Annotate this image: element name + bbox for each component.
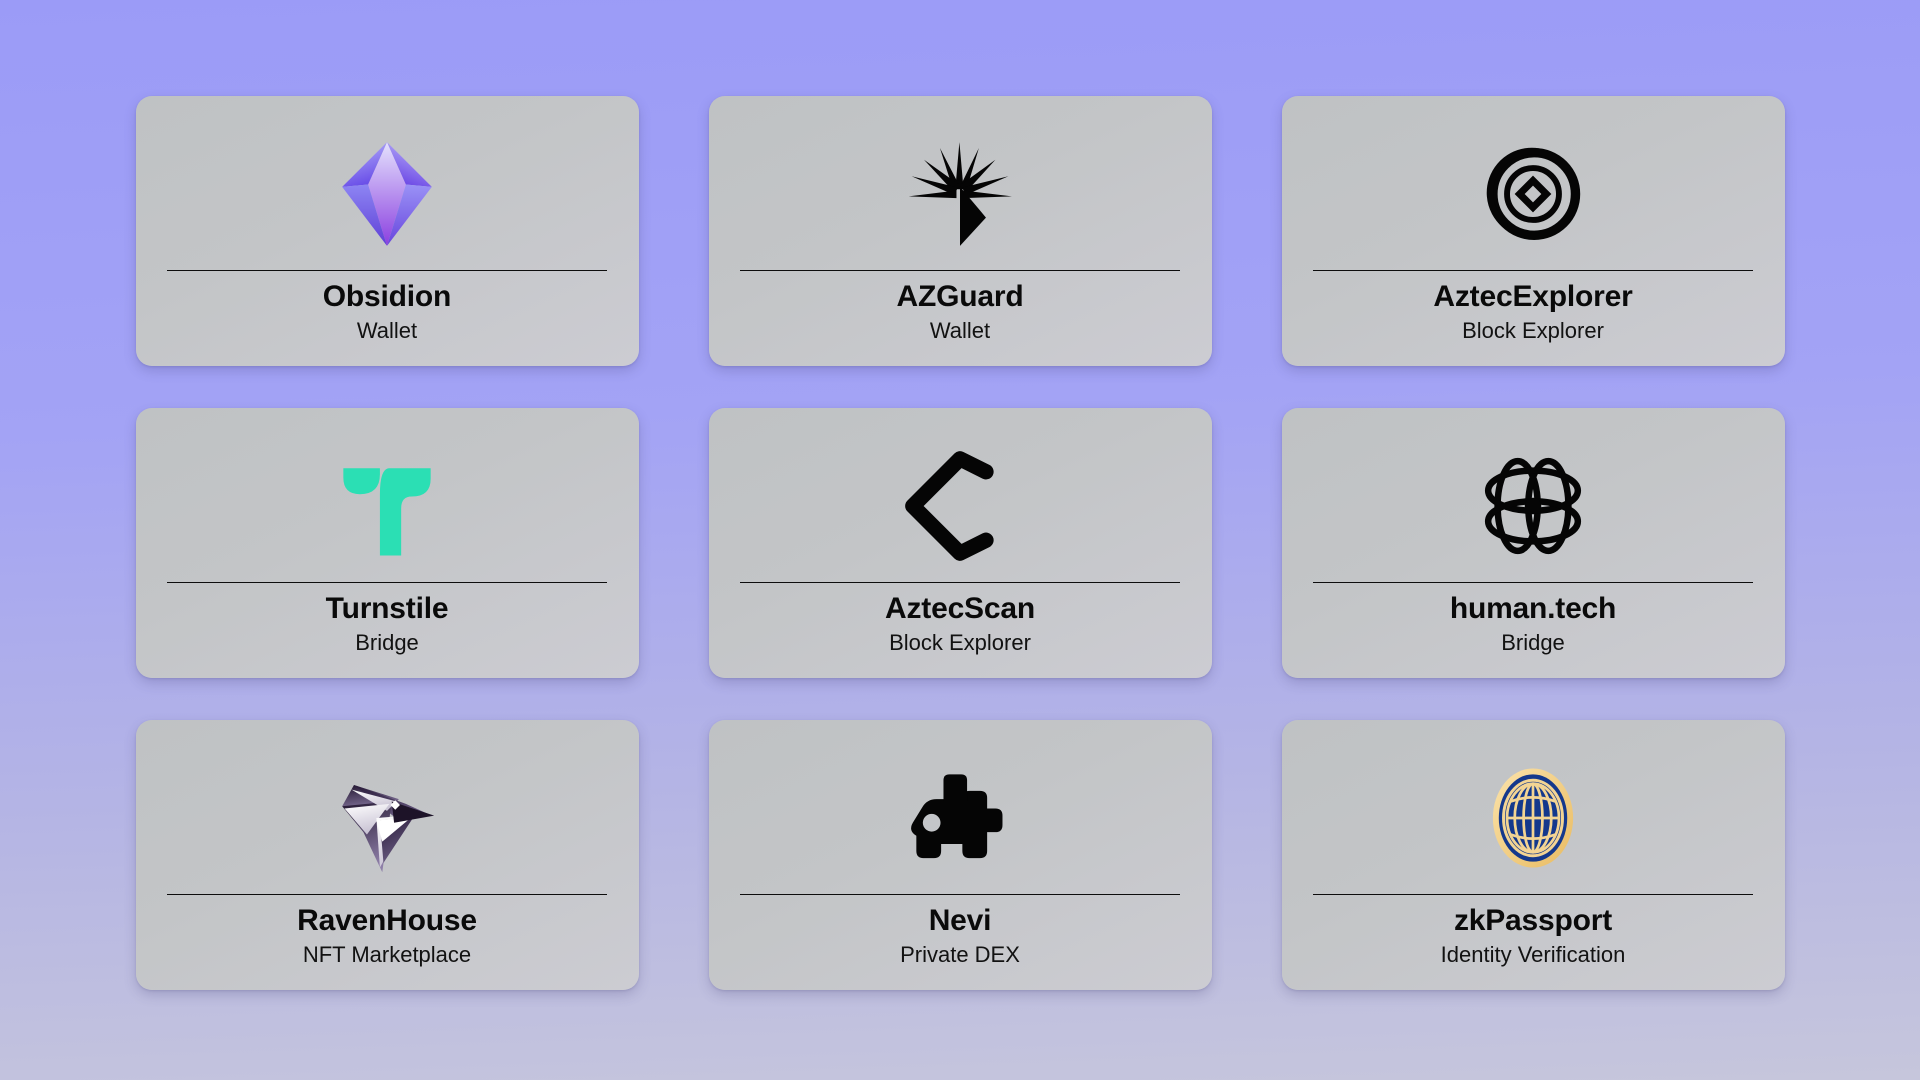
card-divider (740, 270, 1180, 271)
card-meta: ObsidionWallet (136, 279, 639, 350)
card-divider (1313, 894, 1753, 895)
card-title: zkPassport (1282, 903, 1785, 940)
card-category: Block Explorer (1282, 317, 1785, 346)
card-title: Obsidion (136, 279, 639, 316)
nevi-puzzle-logo (709, 742, 1212, 894)
zkpassport-globe-logo (1282, 742, 1785, 894)
card-meta: human.techBridge (1282, 591, 1785, 662)
card-divider (1313, 582, 1753, 583)
card-category: Private DEX (709, 941, 1212, 970)
card-meta: AZGuardWallet (709, 279, 1212, 350)
card-divider (740, 894, 1180, 895)
card-category: NFT Marketplace (136, 941, 639, 970)
card-category: Wallet (136, 317, 639, 346)
card-meta: RavenHouseNFT Marketplace (136, 903, 639, 974)
ecosystem-card[interactable]: human.techBridge (1282, 408, 1785, 678)
card-meta: NeviPrivate DEX (709, 903, 1212, 974)
card-meta: zkPassportIdentity Verification (1282, 903, 1785, 974)
card-category: Identity Verification (1282, 941, 1785, 970)
card-meta: AztecExplorerBlock Explorer (1282, 279, 1785, 350)
ecosystem-card[interactable]: TurnstileBridge (136, 408, 639, 678)
card-meta: TurnstileBridge (136, 591, 639, 662)
ecosystem-card[interactable]: ObsidionWallet (136, 96, 639, 366)
card-title: RavenHouse (136, 903, 639, 940)
ecosystem-card[interactable]: AztecExplorerBlock Explorer (1282, 96, 1785, 366)
card-category: Block Explorer (709, 629, 1212, 658)
card-category: Bridge (136, 629, 639, 658)
card-category: Bridge (1282, 629, 1785, 658)
card-divider (167, 270, 607, 271)
card-title: Turnstile (136, 591, 639, 628)
humantech-atom-logo (1282, 430, 1785, 582)
card-title: AztecScan (709, 591, 1212, 628)
azguard-burst-logo (709, 118, 1212, 270)
card-title: Nevi (709, 903, 1212, 940)
card-divider (167, 582, 607, 583)
card-divider (167, 894, 607, 895)
aztecexplorer-rings-logo (1282, 118, 1785, 270)
card-title: AztecExplorer (1282, 279, 1785, 316)
card-divider (740, 582, 1180, 583)
ecosystem-card[interactable]: AZGuardWallet (709, 96, 1212, 366)
card-divider (1313, 270, 1753, 271)
aztecscan-bracket-logo (709, 430, 1212, 582)
card-title: human.tech (1282, 591, 1785, 628)
ecosystem-card[interactable]: RavenHouseNFT Marketplace (136, 720, 639, 990)
obsidion-gem-logo (136, 118, 639, 270)
card-category: Wallet (709, 317, 1212, 346)
ecosystem-card[interactable]: zkPassportIdentity Verification (1282, 720, 1785, 990)
ecosystem-card[interactable]: AztecScanBlock Explorer (709, 408, 1212, 678)
turnstile-t-logo (136, 430, 639, 582)
ravenhouse-raven-logo (136, 742, 639, 894)
ecosystem-card-grid: ObsidionWallet AZGuardWallet AztecExplor… (120, 35, 1800, 1045)
card-title: AZGuard (709, 279, 1212, 316)
ecosystem-card[interactable]: NeviPrivate DEX (709, 720, 1212, 990)
card-meta: AztecScanBlock Explorer (709, 591, 1212, 662)
